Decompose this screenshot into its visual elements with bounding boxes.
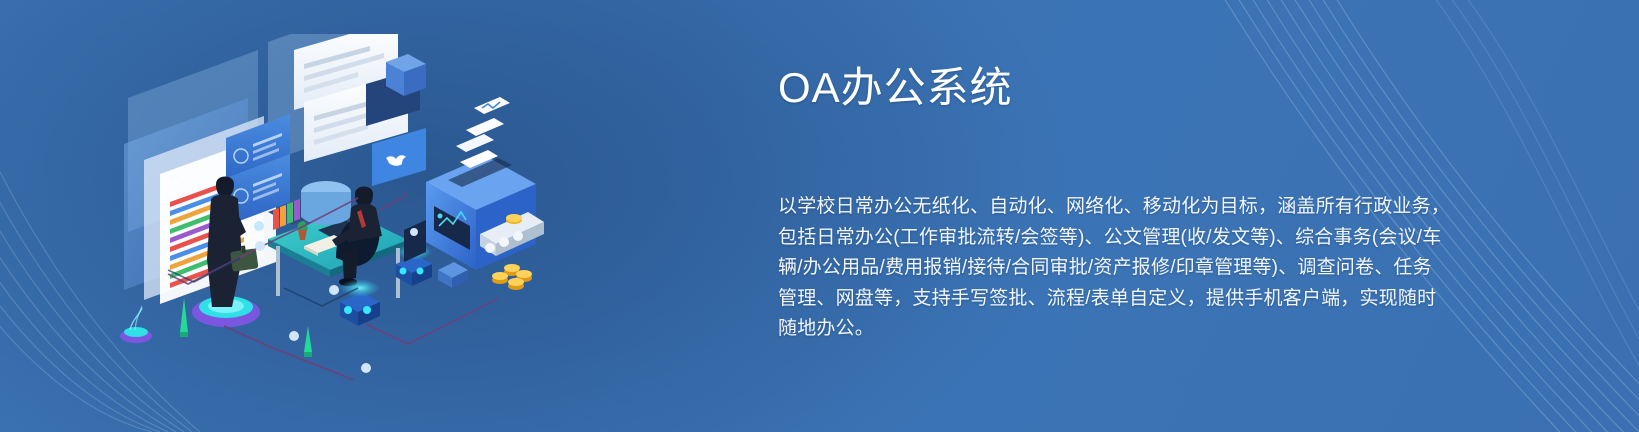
desc-line-4: 管理、网盘等，支持手写签批、流程/表单自定义，提供手机客户端，实现随时 (778, 284, 1468, 315)
page-title: OA办公系统 (778, 60, 1468, 116)
oa-system-banner: OA办公系统 以学校日常办公无纸化、自动化、网络化、移动化为目标，涵盖所有行政业… (0, 0, 1639, 432)
holo-pod-small (120, 306, 152, 343)
desc-line-2: 包括日常办公(工作审批流转/会签等)、公文管理(收/发文等)、综合事务(会议/车 (778, 223, 1468, 254)
cone-marker-left (180, 298, 188, 337)
printer-machine (426, 97, 544, 290)
banner-description: 以学校日常办公无纸化、自动化、网络化、移动化为目标，涵盖所有行政业务， 包括日常… (778, 192, 1468, 345)
cone-marker-center (304, 326, 312, 357)
coin-pile (492, 264, 532, 290)
desc-line-3: 辆/办公用品/费用报销/接待/合同审批/资产报修/印章管理等)、调查问卷、任务 (778, 253, 1468, 284)
office-illustration (108, 34, 548, 380)
desc-line-1: 以学校日常办公无纸化、自动化、网络化、移动化为目标，涵盖所有行政业务， (778, 192, 1468, 223)
robot-pod-center (340, 279, 380, 326)
banner-copy: OA办公系统 以学校日常办公无纸化、自动化、网络化、移动化为目标，涵盖所有行政业… (778, 60, 1468, 345)
desc-line-5: 随地办公。 (778, 314, 1468, 345)
